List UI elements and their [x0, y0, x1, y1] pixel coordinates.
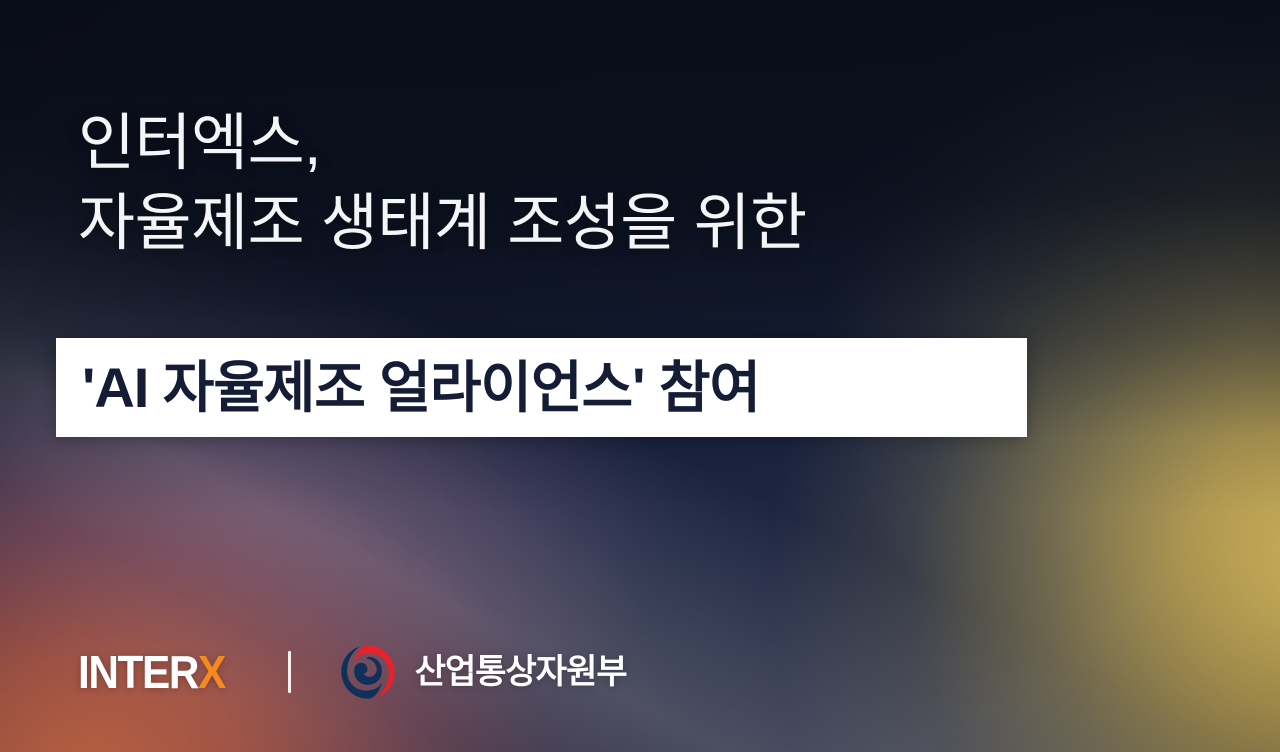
interx-wordmark-accent: X — [198, 649, 225, 695]
logo-divider — [288, 651, 291, 693]
ministry-logo[interactable]: 산업통상자원부 — [339, 643, 627, 701]
interx-wordmark-primary: INTER — [78, 649, 198, 695]
footer-logo-row: INTER X 산업통상자원부 — [78, 640, 627, 704]
highlight-text: 'AI 자율제조 얼라이언스' 참여 — [56, 360, 760, 416]
headline-block: 인터엑스, 자율제조 생태계 조성을 위한 — [78, 104, 1078, 264]
headline-line-2: 자율제조 생태계 조성을 위한 — [78, 184, 1078, 264]
promo-card: 인터엑스, 자율제조 생태계 조성을 위한 'AI 자율제조 얼라이언스' 참여… — [0, 0, 1280, 752]
taegeuk-emblem-icon — [339, 643, 397, 701]
interx-wordmark[interactable]: INTER X — [78, 649, 225, 695]
highlight-band: 'AI 자율제조 얼라이언스' 참여 — [56, 338, 1027, 437]
ministry-name: 산업통상자원부 — [415, 655, 627, 689]
headline-line-1: 인터엑스, — [78, 104, 1078, 184]
